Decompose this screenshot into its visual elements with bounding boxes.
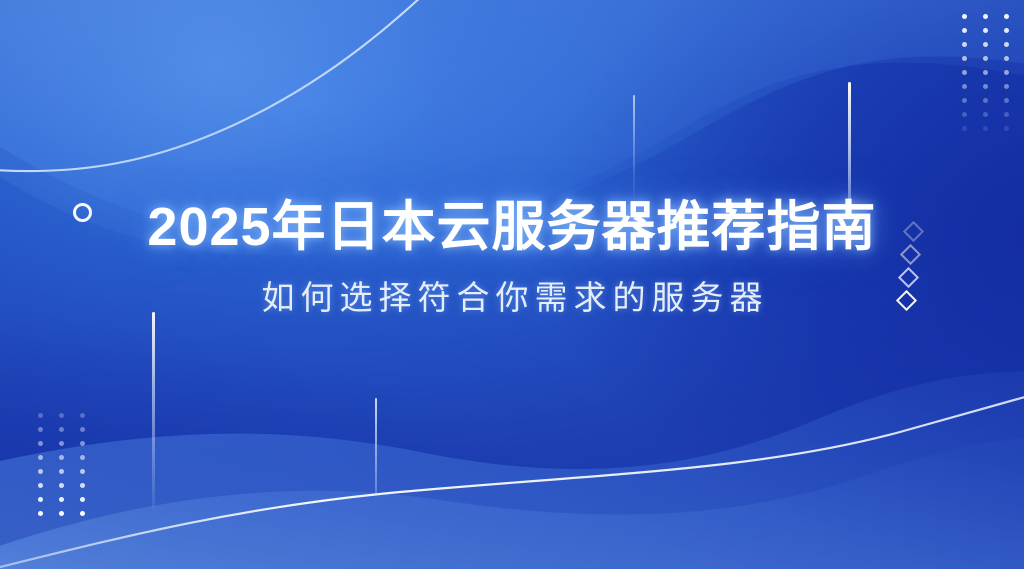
dot-grid-top-right <box>962 14 1009 131</box>
accent-line-upper-left <box>633 95 635 203</box>
accent-line-lower-left <box>152 312 155 508</box>
accent-line-lower-center <box>375 398 377 496</box>
promo-banner: 2025年日本云服务器推荐指南 如何选择符合你需求的服务器 <box>0 0 1024 569</box>
dot-grid-bottom-left <box>38 413 85 516</box>
page-subtitle: 如何选择符合你需求的服务器 <box>0 278 1024 318</box>
accent-line-upper-right <box>848 82 851 206</box>
banner-text-block: 2025年日本云服务器推荐指南 如何选择符合你需求的服务器 <box>0 196 1024 317</box>
page-title: 2025年日本云服务器推荐指南 <box>0 196 1024 260</box>
